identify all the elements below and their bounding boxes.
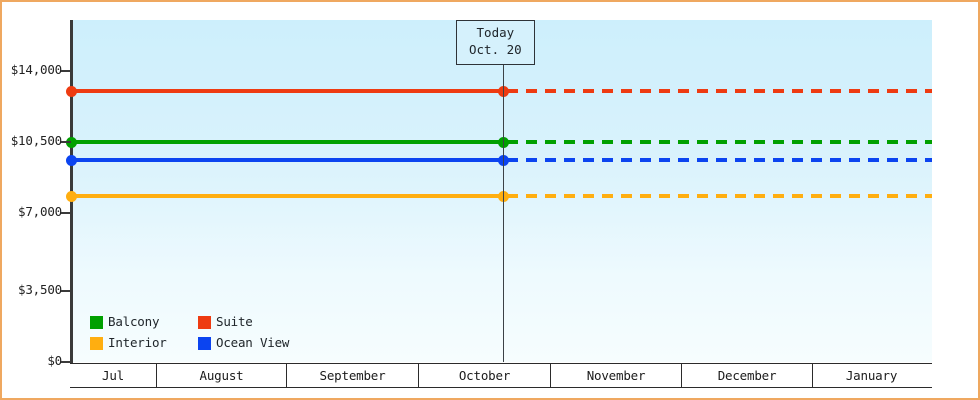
legend-swatch-icon xyxy=(198,337,211,350)
x-axis-month-band: JulAugustSeptemberOctoberNovemberDecembe… xyxy=(70,363,932,388)
legend: BalconySuiteInteriorOcean View xyxy=(90,312,289,354)
data-point-marker xyxy=(66,86,77,97)
y-axis-tick xyxy=(61,290,71,292)
y-axis-tick-label: $3,500 xyxy=(4,284,62,297)
series-forecast-dashed-segment xyxy=(507,158,932,162)
legend-item-label: Ocean View xyxy=(216,337,289,350)
month-cell-january[interactable]: January xyxy=(813,364,930,387)
month-cell-november[interactable]: November xyxy=(551,364,682,387)
data-point-marker xyxy=(66,155,77,166)
series-forecast-dashed-segment xyxy=(507,89,932,93)
y-axis-tick xyxy=(61,212,71,214)
legend-swatch-icon xyxy=(90,316,103,329)
y-axis-tick xyxy=(61,141,71,143)
data-point-marker xyxy=(66,191,77,202)
series-forecast-dashed-segment xyxy=(507,140,932,144)
y-axis-tick-label: $14,000 xyxy=(4,64,62,77)
legend-swatch-icon xyxy=(198,316,211,329)
month-cell-jul[interactable]: Jul xyxy=(70,364,157,387)
month-cell-october[interactable]: October xyxy=(419,364,551,387)
today-callout-box: Today Oct. 20 xyxy=(456,20,535,65)
legend-item-interior[interactable]: Interior xyxy=(90,337,198,350)
month-cell-december[interactable]: December xyxy=(682,364,813,387)
y-axis-tick-label: $0 xyxy=(4,355,62,368)
month-cell-september[interactable]: September xyxy=(287,364,419,387)
today-date: Oct. 20 xyxy=(469,42,522,59)
month-cell-august[interactable]: August xyxy=(157,364,287,387)
y-axis-tick xyxy=(61,70,71,72)
today-vertical-line xyxy=(503,20,505,362)
today-label: Today xyxy=(469,25,522,42)
series-solid-segment xyxy=(72,89,503,93)
legend-item-label: Interior xyxy=(108,337,167,350)
legend-item-balcony[interactable]: Balcony xyxy=(90,316,198,329)
legend-item-label: Balcony xyxy=(108,316,159,329)
y-axis-tick-label: $10,500 xyxy=(4,135,62,148)
chart-screenshot: $14,000$10,500$7,000$3,500$0 Today Oct. … xyxy=(0,0,980,400)
series-solid-segment xyxy=(72,194,503,198)
series-solid-segment xyxy=(72,140,503,144)
series-forecast-dashed-segment xyxy=(507,194,932,198)
y-axis-tick-label: $7,000 xyxy=(4,206,62,219)
legend-item-label: Suite xyxy=(216,316,253,329)
y-axis-tick xyxy=(61,361,71,363)
series-solid-segment xyxy=(72,158,503,162)
legend-swatch-icon xyxy=(90,337,103,350)
legend-item-ocean-view[interactable]: Ocean View xyxy=(198,337,289,350)
y-axis-labels: $14,000$10,500$7,000$3,500$0 xyxy=(2,2,62,400)
legend-item-suite[interactable]: Suite xyxy=(198,316,289,329)
